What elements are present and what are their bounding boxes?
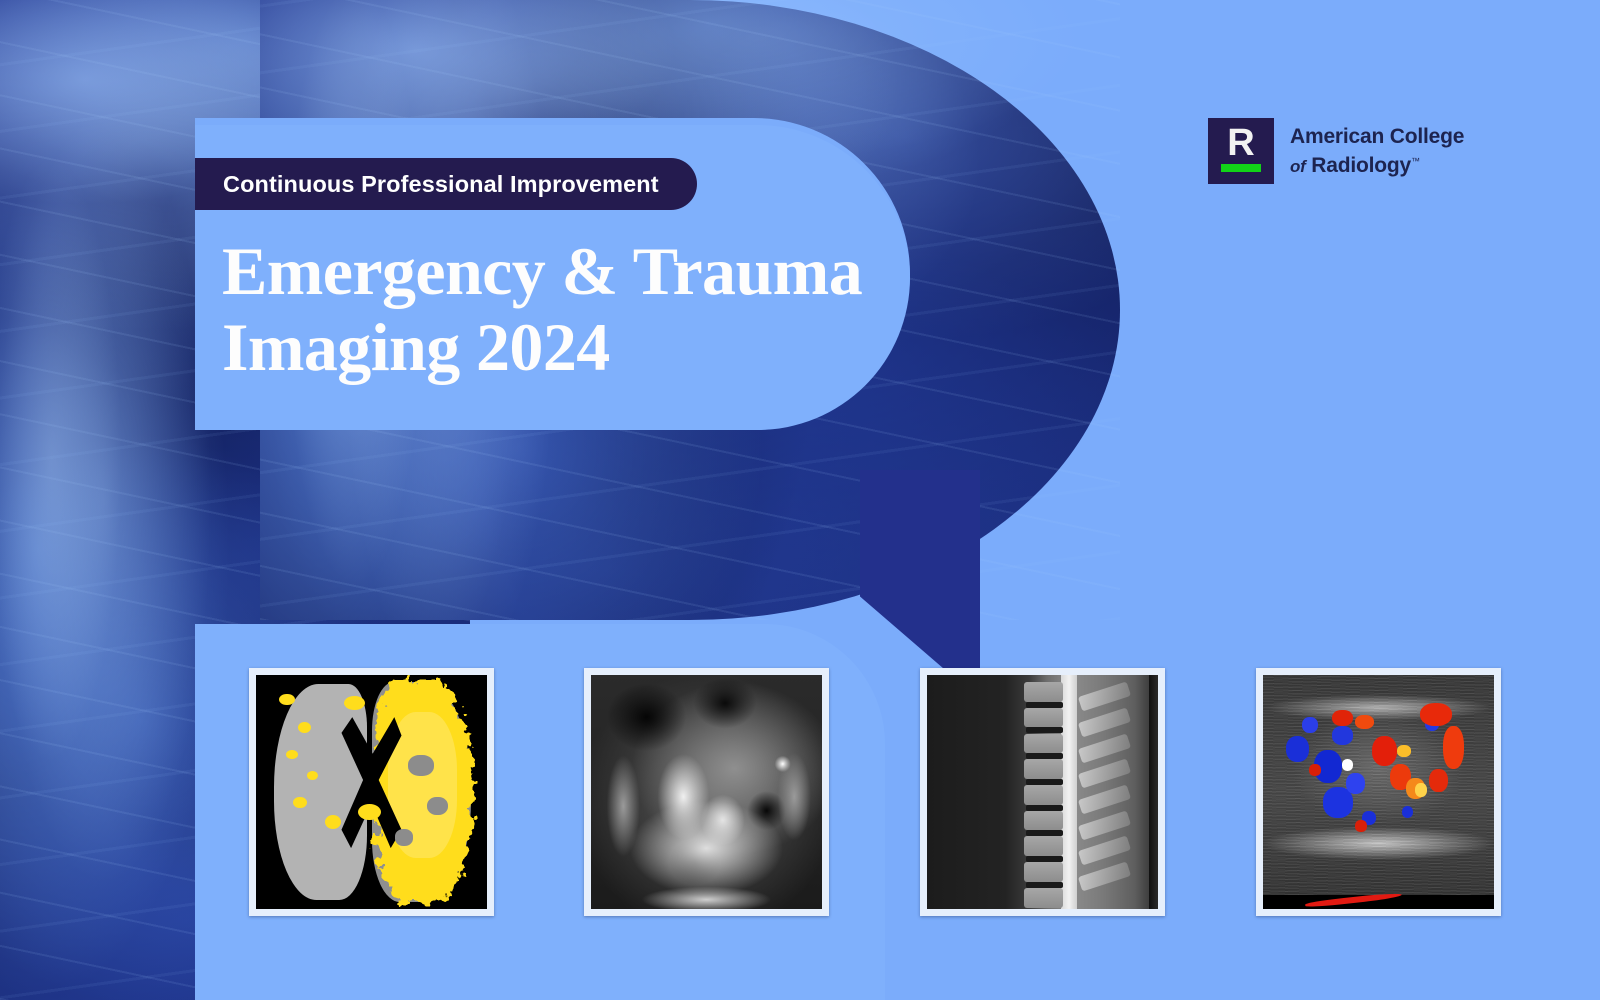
spinal-cord [1061, 675, 1077, 909]
doppler-yellow-flow [1415, 783, 1427, 797]
spine-sagittal [927, 675, 1158, 909]
thumbnail-brain-perfusion-map[interactable] [249, 668, 494, 916]
vertebral-body [1024, 759, 1063, 779]
brain-map [256, 675, 487, 909]
spine-mri-image [927, 675, 1158, 909]
perfusion-speck [286, 750, 298, 759]
thumbnail-pelvic-ct-scan[interactable] [584, 668, 829, 916]
thumbnail-sagittal-spine-mri[interactable] [920, 668, 1165, 916]
acr-logo-line-2: of Radiology™ [1290, 149, 1464, 179]
doppler-blue-flow [1302, 717, 1318, 733]
acr-logo-of: of [1290, 157, 1306, 176]
perfusion-speck [344, 696, 365, 710]
perfusion-defect [427, 797, 448, 816]
perfusion-speck [358, 804, 381, 820]
vertebral-body [1024, 708, 1063, 728]
vertebral-body [1024, 811, 1063, 831]
intervertebral-disc [1026, 702, 1063, 708]
acr-logo-mark: R [1208, 118, 1274, 184]
doppler-red-flow [1355, 715, 1373, 729]
doppler-aliasing-highlight [1342, 759, 1354, 771]
doppler-deep-vessel [1305, 892, 1402, 909]
brain-perfusion-image [256, 675, 487, 909]
doppler-ultrasound-image [1263, 675, 1494, 909]
poster-canvas: Continuous Professional Improvement Emer… [0, 0, 1600, 1000]
doppler-red-flow [1429, 769, 1447, 792]
vertebral-body [1024, 836, 1063, 856]
pelvic-ct-image [591, 675, 822, 909]
vertebral-body [1024, 862, 1063, 882]
doppler-blue-flow [1346, 773, 1364, 794]
brain-left-hemisphere [274, 684, 366, 899]
vertebral-body [1024, 785, 1063, 805]
perfusion-defect [395, 829, 413, 845]
vertebral-body [1024, 734, 1063, 754]
doppler-red-flow [1309, 764, 1321, 776]
vertebral-body [1024, 888, 1063, 908]
doppler-blue-flow [1402, 806, 1414, 818]
acr-logo-line-1: American College [1290, 124, 1464, 149]
doppler-red-flow [1355, 820, 1367, 832]
doppler-blue-flow [1332, 726, 1353, 745]
doppler-red-flow [1372, 736, 1397, 766]
acr-logo-green-bar [1221, 164, 1261, 172]
perfusion-speck [293, 797, 307, 809]
intervertebral-disc [1026, 727, 1063, 733]
perfusion-defect [408, 755, 433, 776]
intervertebral-disc [1026, 805, 1063, 811]
acr-logo[interactable]: R American College of Radiology™ [1208, 118, 1464, 184]
trademark-icon: ™ [1411, 156, 1420, 166]
doppler-red-flow [1332, 710, 1353, 726]
acr-logo-wordmark: American College of Radiology™ [1290, 124, 1464, 179]
doppler-red-flow [1420, 703, 1452, 726]
ct-slice [591, 675, 822, 909]
acr-logo-radiology: Radiology [1311, 154, 1411, 177]
ultrasound-greyscale [1263, 675, 1494, 909]
acr-logo-letter-r: R [1208, 123, 1274, 163]
doppler-red-flow [1443, 726, 1464, 768]
vertebral-body [1024, 682, 1063, 702]
thumbnail-color-doppler-ultrasound[interactable] [1256, 668, 1501, 916]
posterior-edge [1149, 675, 1158, 909]
ultrasound-scale-bar [1263, 895, 1494, 909]
doppler-blue-flow [1286, 736, 1309, 762]
doppler-yellow-flow [1397, 745, 1411, 757]
